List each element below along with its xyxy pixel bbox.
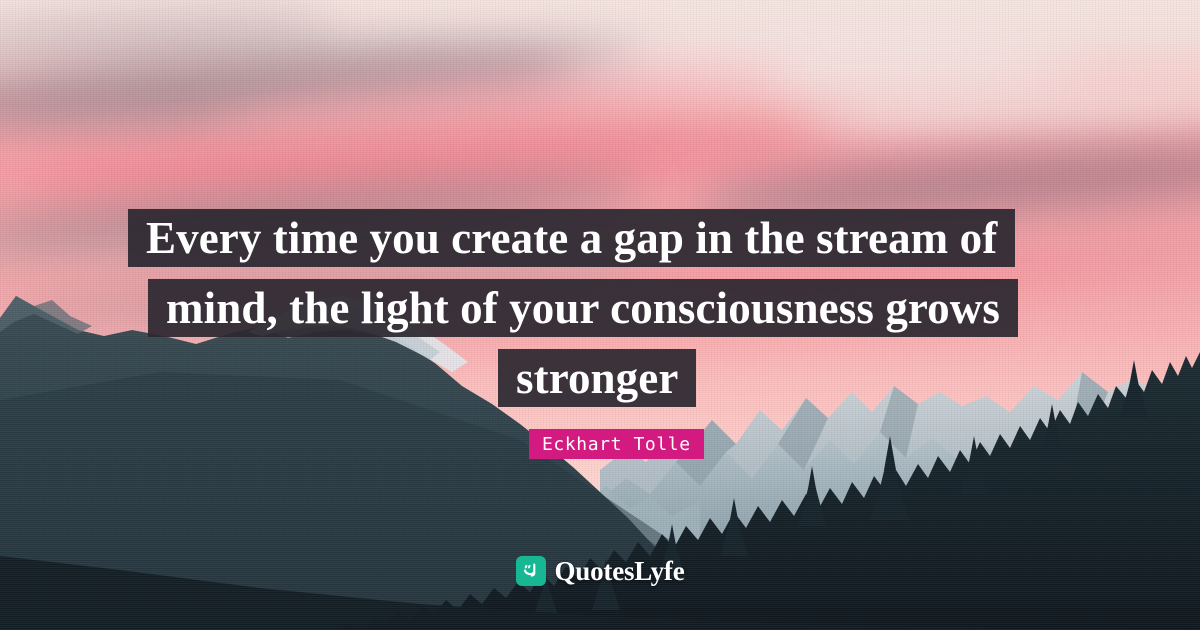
quote-line-3: stronger	[498, 349, 696, 407]
quote-line-2: mind, the light of your consciousness gr…	[148, 279, 1018, 337]
quoteslyfe-wordmark: QuotesLyfe	[555, 558, 685, 585]
quote-smiley-icon	[516, 556, 546, 586]
author-badge: Eckhart Tolle	[529, 429, 704, 459]
quote-line-1: Every time you create a gap in the strea…	[128, 209, 1015, 267]
quoteslyfe-logo[interactable]: QuotesLyfe	[0, 556, 1200, 586]
quote-card: Every time you create a gap in the strea…	[0, 0, 1200, 630]
